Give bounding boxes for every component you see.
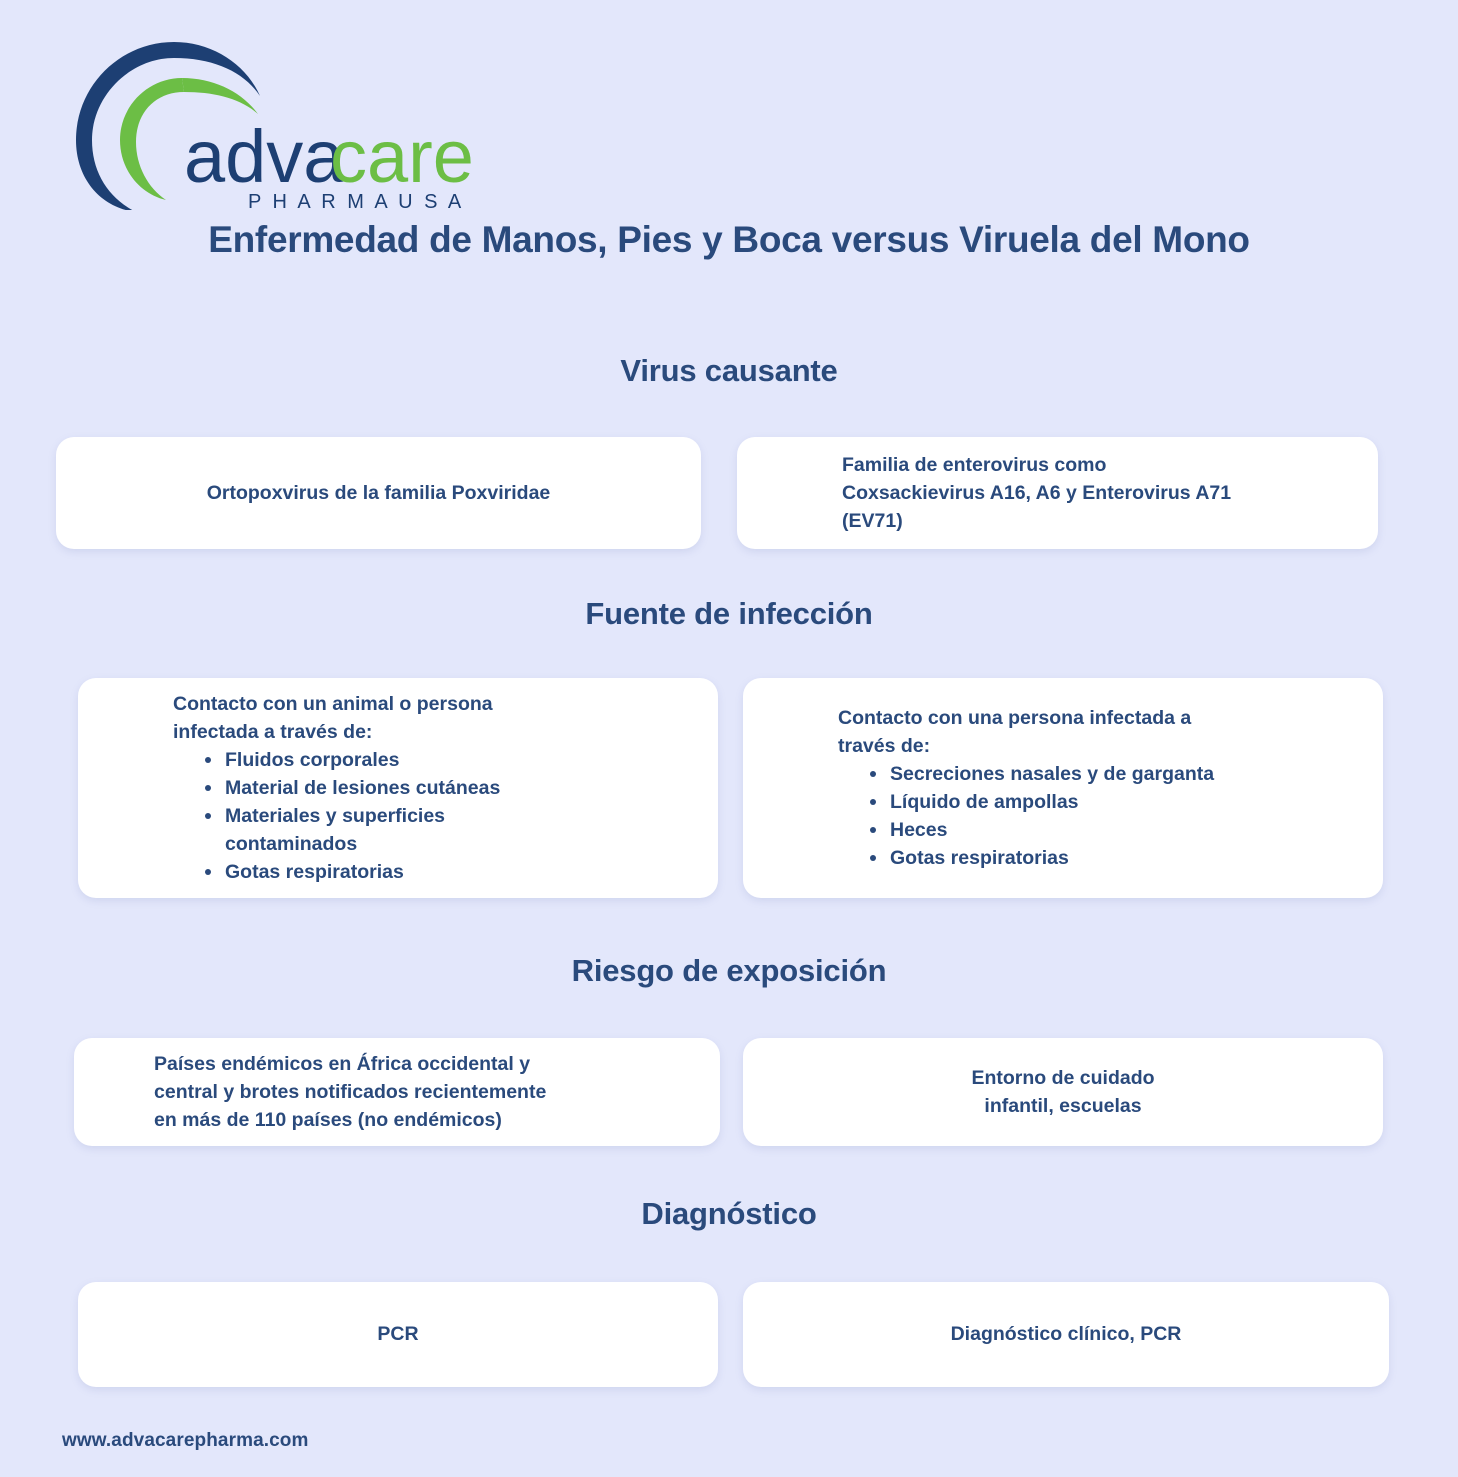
card-fuente-infeccion-right[interactable]: Contacto con una persona infectada a tra…: [743, 678, 1383, 898]
section-title-riesgo-exposicion: Riesgo de exposición: [0, 953, 1458, 989]
card-riesgo-exposicion-left[interactable]: Países endémicos en África occidental y …: [74, 1038, 720, 1146]
footer-website-url[interactable]: www.advacarepharma.com: [62, 1430, 309, 1452]
card-fuente-infeccion-left[interactable]: Contacto con un animal o persona infecta…: [78, 678, 718, 898]
card-row-virus-causante: Ortopoxvirus de la familia Poxviridae Fa…: [0, 437, 1458, 549]
logo-svg: adva care P H A R M A U S A: [62, 30, 482, 210]
card-virus-causante-right-text: Familia de enterovirus como Coxsackievir…: [842, 451, 1358, 536]
list-item: Gotas respiratorias: [868, 844, 1363, 872]
section-title-fuente-infeccion: Fuente de infección: [0, 596, 1458, 632]
list-item: Heces: [868, 816, 1363, 844]
card-fuente-infeccion-right-bullets: Secreciones nasales y de garganta Líquid…: [838, 760, 1363, 872]
logo-inner-arc: [120, 78, 184, 200]
list-item: Material de lesiones cutáneas: [203, 774, 698, 802]
card-riesgo-exposicion-left-text: Países endémicos en África occidental y …: [154, 1050, 696, 1135]
card-diagnostico-left-text: PCR: [78, 1320, 718, 1348]
card-fuente-infeccion-left-text: Contacto con un animal o persona infecta…: [173, 690, 698, 747]
card-diagnostico-right-text: Diagnóstico clínico, PCR: [743, 1320, 1389, 1348]
section-diagnostico: Diagnóstico: [0, 1196, 1458, 1232]
list-item: Líquido de ampollas: [868, 788, 1363, 816]
card-riesgo-exposicion-right-text: Entorno de cuidado infantil, escuelas: [743, 1064, 1383, 1121]
card-virus-causante-left[interactable]: Ortopoxvirus de la familia Poxviridae: [56, 437, 701, 549]
list-item: Fluidos corporales: [203, 746, 698, 774]
section-virus-causante: Virus causante: [0, 353, 1458, 389]
card-diagnostico-left[interactable]: PCR: [78, 1282, 718, 1387]
card-virus-causante-left-text: Ortopoxvirus de la familia Poxviridae: [56, 479, 701, 507]
card-riesgo-exposicion-right[interactable]: Entorno de cuidado infantil, escuelas: [743, 1038, 1383, 1146]
section-title-virus-causante: Virus causante: [0, 353, 1458, 389]
logo-wordmark-care: care: [330, 115, 474, 198]
card-virus-causante-right[interactable]: Familia de enterovirus como Coxsackievir…: [737, 437, 1378, 549]
list-item: Materiales y superficies contaminados: [203, 802, 698, 858]
logo-wordmark-adva: adva: [184, 115, 345, 198]
section-riesgo-exposicion: Riesgo de exposición: [0, 953, 1458, 989]
card-row-riesgo-exposicion: Países endémicos en África occidental y …: [0, 1038, 1458, 1146]
list-item: Gotas respiratorias: [203, 858, 698, 886]
section-title-diagnostico: Diagnóstico: [0, 1196, 1458, 1232]
card-fuente-infeccion-right-text: Contacto con una persona infectada a tra…: [838, 704, 1363, 761]
card-fuente-infeccion-left-bullets: Fluidos corporales Material de lesiones …: [173, 746, 698, 886]
card-row-fuente-infeccion: Contacto con un animal o persona infecta…: [0, 678, 1458, 898]
card-diagnostico-right[interactable]: Diagnóstico clínico, PCR: [743, 1282, 1389, 1387]
logo-inner-arc-top: [182, 78, 258, 114]
section-fuente-infeccion: Fuente de infección: [0, 596, 1458, 632]
page-title: Enfermedad de Manos, Pies y Boca versus …: [0, 218, 1458, 262]
logo-subtitle: P H A R M A U S A: [248, 191, 464, 210]
list-item: Secreciones nasales y de garganta: [868, 760, 1363, 788]
advacare-logo: adva care P H A R M A U S A: [62, 30, 482, 210]
card-row-diagnostico: PCR Diagnóstico clínico, PCR: [0, 1282, 1458, 1387]
